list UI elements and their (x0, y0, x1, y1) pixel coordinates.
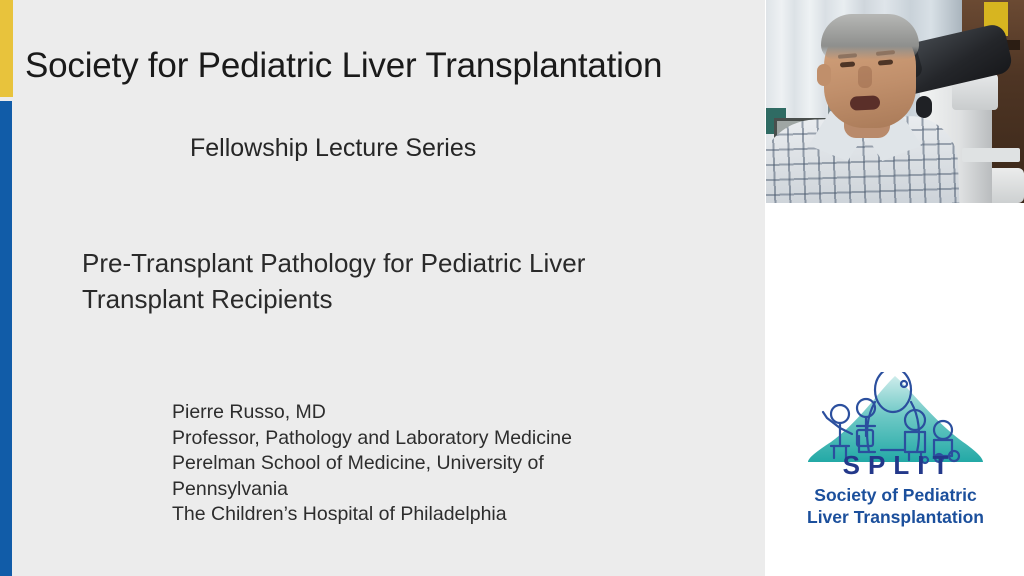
speaker-eye-left (840, 61, 855, 67)
accent-bar-yellow-icon (0, 0, 13, 97)
author-block: Pierre Russo, MD Professor, Pathology an… (172, 400, 642, 528)
author-name: Pierre Russo, MD (172, 400, 642, 426)
speaker-ear (817, 64, 831, 86)
author-hospital: The Children’s Hospital of Philadelphia (172, 502, 642, 528)
split-tagline: Society of Pediatric Liver Transplantati… (793, 484, 998, 528)
slide-subtitle: Fellowship Lecture Series (190, 131, 476, 165)
speaker-video-tile[interactable] (766, 0, 1024, 203)
author-institution-line2: Pennsylvania (172, 477, 642, 503)
slide-title: Society for Pediatric Liver Transplantat… (25, 44, 755, 88)
split-tagline-line2: Liver Transplantation (793, 506, 998, 528)
speaker-hair (821, 14, 919, 60)
speaker-nose (858, 66, 872, 88)
microscope-stage-icon (962, 148, 1020, 162)
author-institution-line1: Perelman School of Medicine, University … (172, 451, 642, 477)
accent-bar-blue-icon (0, 101, 12, 576)
split-tagline-line1: Society of Pediatric (793, 484, 998, 506)
microscope-focus-knob-icon (916, 96, 932, 118)
presentation-viewport: Society for Pediatric Liver Transplantat… (0, 0, 1024, 576)
split-logo: SPLIT Society of Pediatric Liver Transpl… (793, 372, 998, 538)
lecture-title: Pre-Transplant Pathology for Pediatric L… (82, 245, 682, 317)
slide-canvas: Society for Pediatric Liver Transplantat… (0, 0, 765, 576)
split-wordmark: SPLIT (793, 450, 998, 481)
author-role: Professor, Pathology and Laboratory Medi… (172, 426, 642, 452)
speaker-mouth (850, 95, 881, 111)
